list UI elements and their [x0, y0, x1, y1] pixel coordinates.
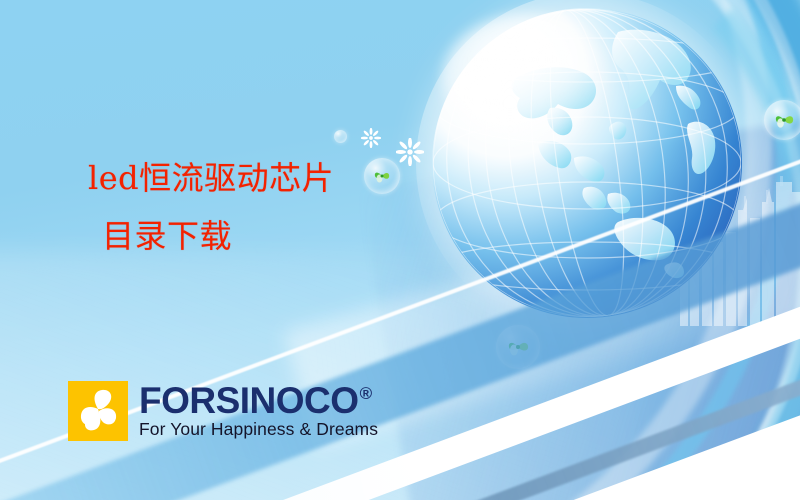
logo-wordmark-row: FORSINOCO ® [139, 383, 378, 419]
logo-tagline: For Your Happiness & Dreams [139, 420, 378, 439]
headline-line-1: led恒流驱动芯片 [88, 162, 508, 194]
globe-highlight [442, 14, 612, 144]
green-leaf-icon [773, 110, 795, 130]
company-logo: FORSINOCO ® For Your Happiness & Dreams [68, 381, 378, 441]
background-wash-bottom [0, 250, 640, 500]
bubble-icon [764, 100, 800, 140]
registered-trademark-icon: ® [360, 385, 372, 402]
logo-text-block: FORSINOCO ® For Your Happiness & Dreams [139, 383, 378, 440]
headline: led恒流驱动芯片 目录下载 [88, 162, 508, 252]
pinwheel-petals [68, 381, 128, 441]
bubble-icon [334, 130, 347, 143]
four-petal-pinwheel-icon [68, 381, 128, 441]
flower-sparkle-icon [361, 128, 381, 148]
headline-line-2: 目录下载 [102, 220, 508, 252]
logo-wordmark: FORSINOCO [139, 383, 359, 419]
promo-banner: led恒流驱动芯片 目录下载 FORSINOCO ® For Your Happ… [0, 0, 800, 500]
